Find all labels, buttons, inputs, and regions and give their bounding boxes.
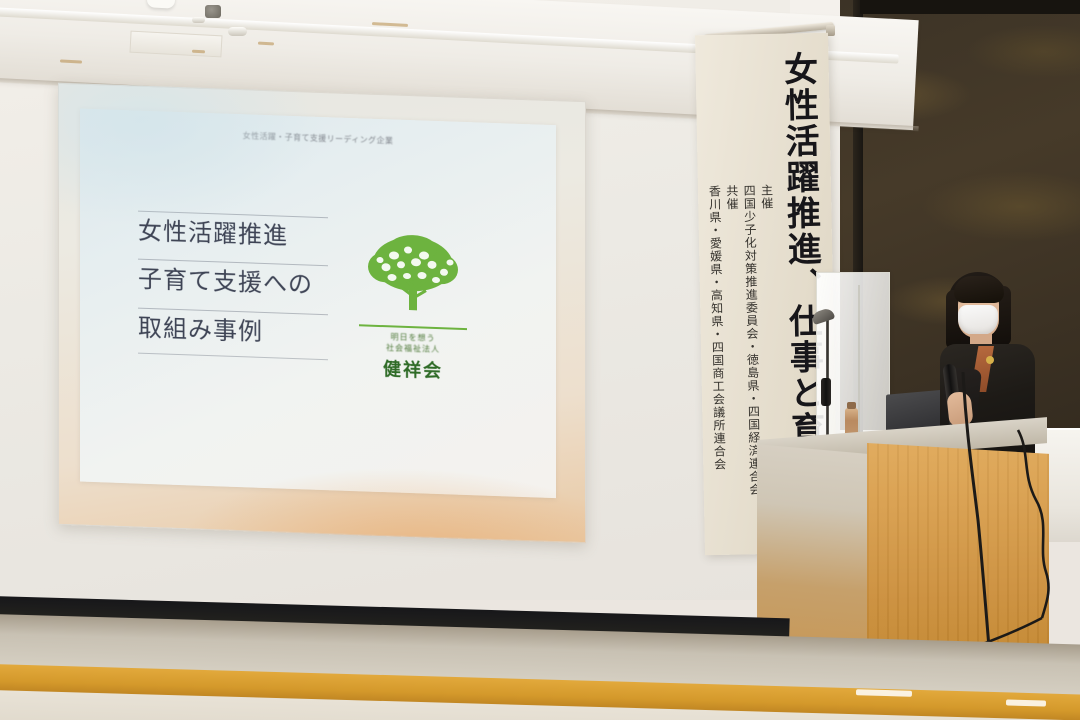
podium-side-panel	[867, 443, 1049, 666]
slide-header-text: 女性活躍・子育て支援リーディング企業	[80, 125, 556, 153]
slide-title-line-1: 女性活躍推進	[138, 218, 288, 250]
ceiling-mark	[192, 50, 205, 54]
microphone-transmitter	[821, 378, 831, 406]
acrylic-panel-seam	[858, 285, 860, 445]
conference-hall-photo: 女性活躍・子育て支援リーディング企業 女性活躍推進 子育て支援への 取組み事例	[0, 0, 1080, 720]
presentation-slide: 女性活躍・子育て支援リーディング企業 女性活躍推進 子育て支援への 取組み事例	[80, 109, 556, 499]
hair-front	[954, 276, 1004, 303]
organization-logo: 明日を想う 社会福祉法人 健祥会	[348, 232, 478, 384]
ceiling-sensor-icon	[192, 17, 205, 23]
ceiling-vent	[129, 31, 222, 58]
backdrop-top-rail	[860, 0, 1080, 14]
slide-title-block: 女性活躍推進 子育て支援への 取組み事例	[138, 211, 338, 363]
podium-front-panel	[757, 444, 869, 646]
logo-ground-line	[359, 324, 467, 330]
slide-title-line-2: 子育て支援への	[138, 266, 313, 299]
slide-title-line: 女性活躍推進	[138, 211, 338, 252]
ceiling-speaker-icon	[205, 5, 221, 18]
water-bottle-cap	[847, 402, 856, 409]
face-mask	[958, 305, 998, 335]
slide-title-line-3: 取組み事例	[138, 314, 263, 345]
projection-screen: 女性活躍・子育て支援リーディング企業 女性活躍推進 子育て支援への 取組み事例	[58, 83, 586, 543]
tree-icon	[358, 232, 468, 322]
slide-title-line: 子育て支援への	[138, 259, 338, 300]
slide-title-line: 取組み事例	[138, 307, 338, 348]
lapel-badge	[986, 356, 994, 364]
podium	[757, 440, 1047, 670]
smoke-detector-icon	[228, 27, 247, 36]
logo-org-name: 健祥会	[348, 354, 478, 385]
slide-content: 女性活躍推進 子育て支援への 取組み事例	[138, 211, 498, 385]
floor-tape-mark	[1006, 699, 1046, 706]
